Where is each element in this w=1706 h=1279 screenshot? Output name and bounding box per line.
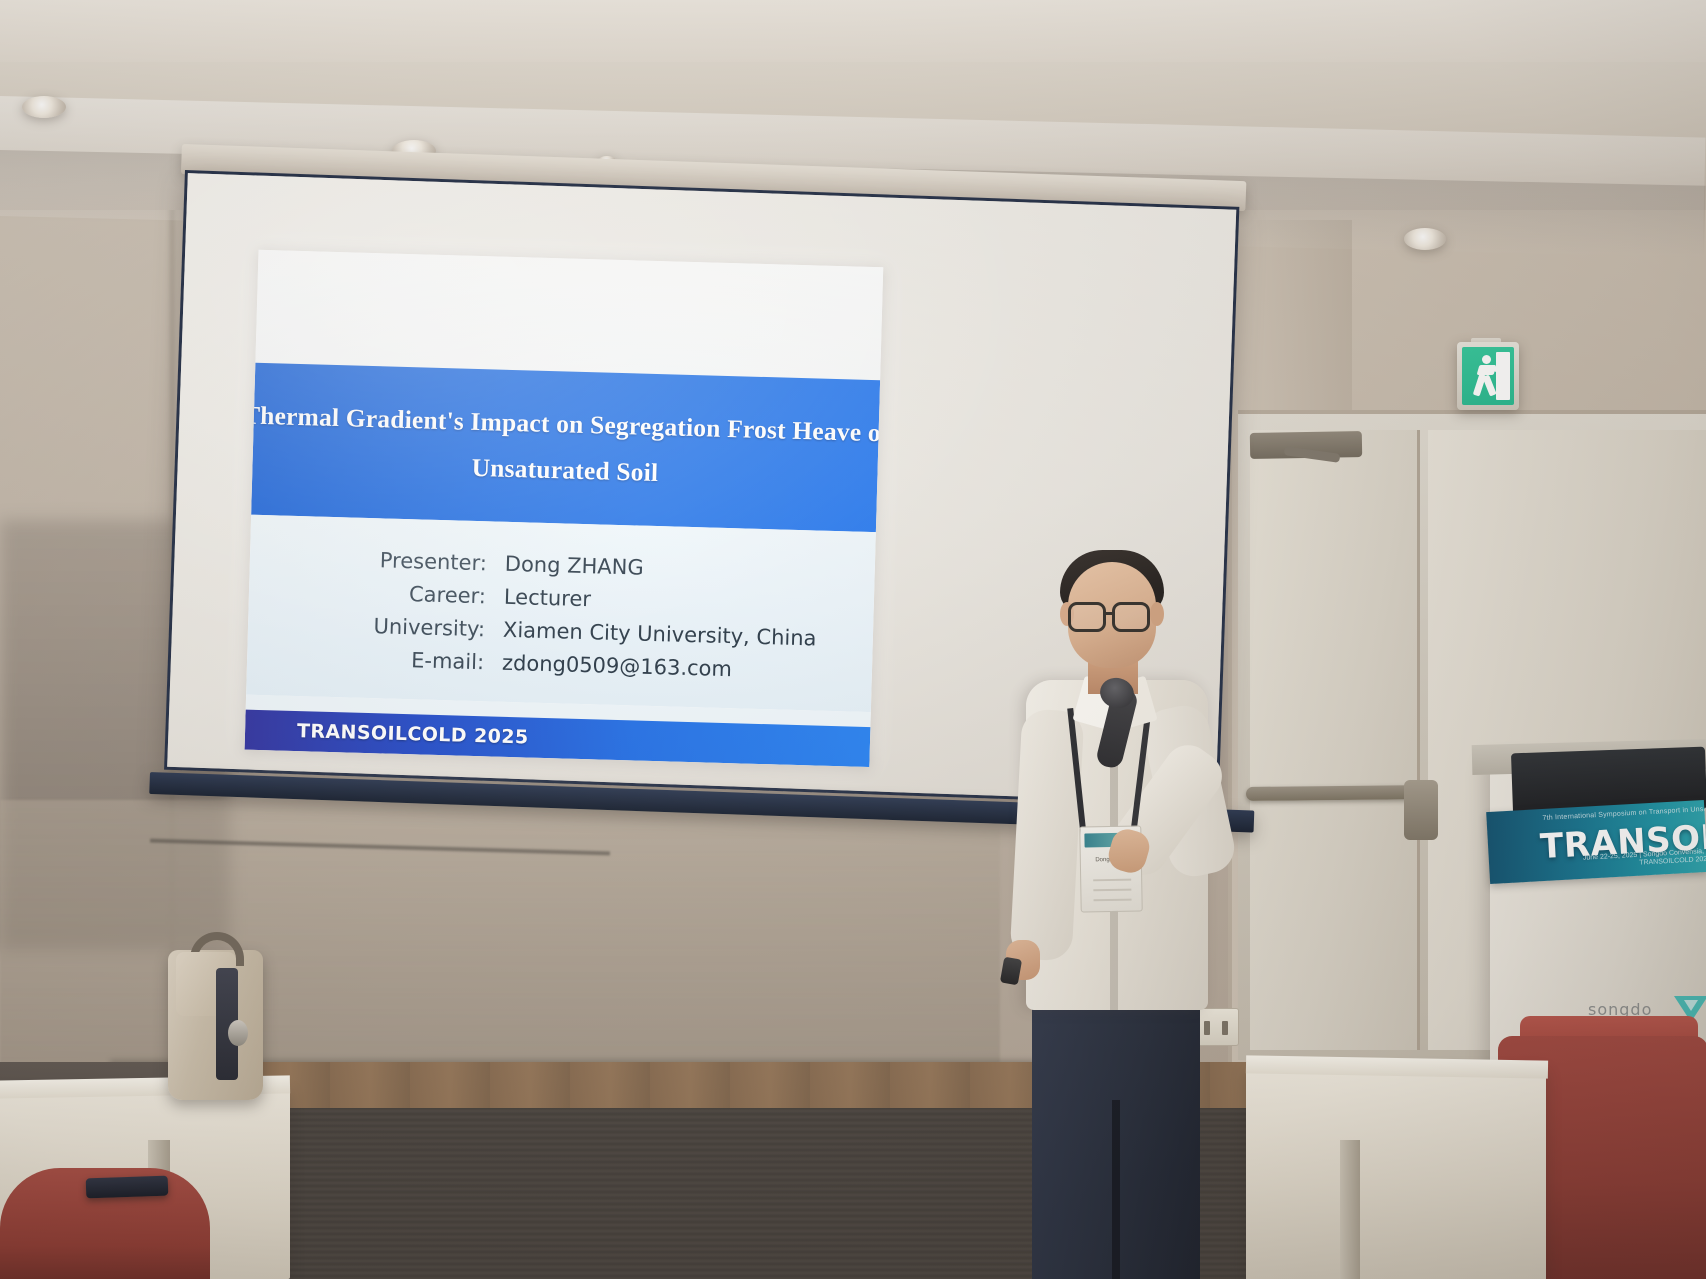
info-label-career: Career: <box>249 578 505 609</box>
slide-title-line-1: Thermal Gradient's Impact on Segregation… <box>245 400 884 448</box>
badge-line <box>1093 889 1131 892</box>
info-label-email: E-mail: <box>247 644 503 675</box>
handbag-clasp <box>228 1020 248 1046</box>
exit-figure-leg <box>1482 374 1496 396</box>
info-value-presenter: Dong ZHANG <box>505 552 644 580</box>
door-push-bar[interactable] <box>1246 785 1426 801</box>
presenter: Dong Zhang <box>960 540 1260 1160</box>
presenter-ear-right <box>1150 602 1164 626</box>
badge-line <box>1094 899 1132 902</box>
slide-footer-text: TRANSOILCOLD 2025 <box>297 720 529 748</box>
exit-figure-head <box>1482 355 1491 364</box>
door-handle[interactable] <box>1404 780 1438 840</box>
slide-info-block: Presenter: Dong ZHANG Career: Lecturer U… <box>246 515 876 712</box>
ceiling-downlight <box>1404 228 1446 250</box>
info-label-presenter: Presenter: <box>250 545 506 576</box>
table-right <box>1246 1066 1546 1279</box>
presentation-clicker <box>1000 957 1022 986</box>
info-label-university: University: <box>248 611 504 642</box>
presentation-slide: Thermal Gradient's Impact on Segregation… <box>245 250 884 767</box>
lectern-conference-banner: 7th International Symposium on Transport… <box>1486 800 1706 884</box>
info-value-university: Xiamen City University, China <box>503 618 817 651</box>
running-man-exit-icon <box>1462 347 1514 405</box>
ceiling-upper-band <box>0 0 1706 62</box>
presenter-leg-split <box>1112 1100 1120 1279</box>
badge-line <box>1093 879 1131 882</box>
smartphone-on-table <box>86 1176 169 1199</box>
info-value-email: zdong0509@163.com <box>502 651 732 681</box>
exit-door-glyph <box>1496 352 1510 400</box>
handbag <box>168 950 263 1100</box>
venue-chevron-inner-icon <box>1684 1000 1698 1011</box>
slide-info-row: E-mail: zdong0509@163.com <box>247 644 872 685</box>
ceiling-downlight <box>22 96 66 118</box>
glasses-lens-right <box>1112 602 1150 632</box>
slide-title-band: Thermal Gradient's Impact on Segregation… <box>251 363 880 532</box>
glasses-bridge <box>1105 612 1115 615</box>
glasses-lens-left <box>1068 602 1106 632</box>
info-value-career: Lecturer <box>504 585 592 611</box>
conference-room-photo: Thermal Gradient's Impact on Segregation… <box>0 0 1706 1279</box>
exit-sign <box>1457 342 1519 410</box>
table-right-leg <box>1340 1140 1360 1279</box>
slide-header-space <box>255 250 883 382</box>
slide-title-line-2: Unsaturated Soil <box>471 453 658 488</box>
door-panel-left[interactable] <box>1250 430 1420 1050</box>
